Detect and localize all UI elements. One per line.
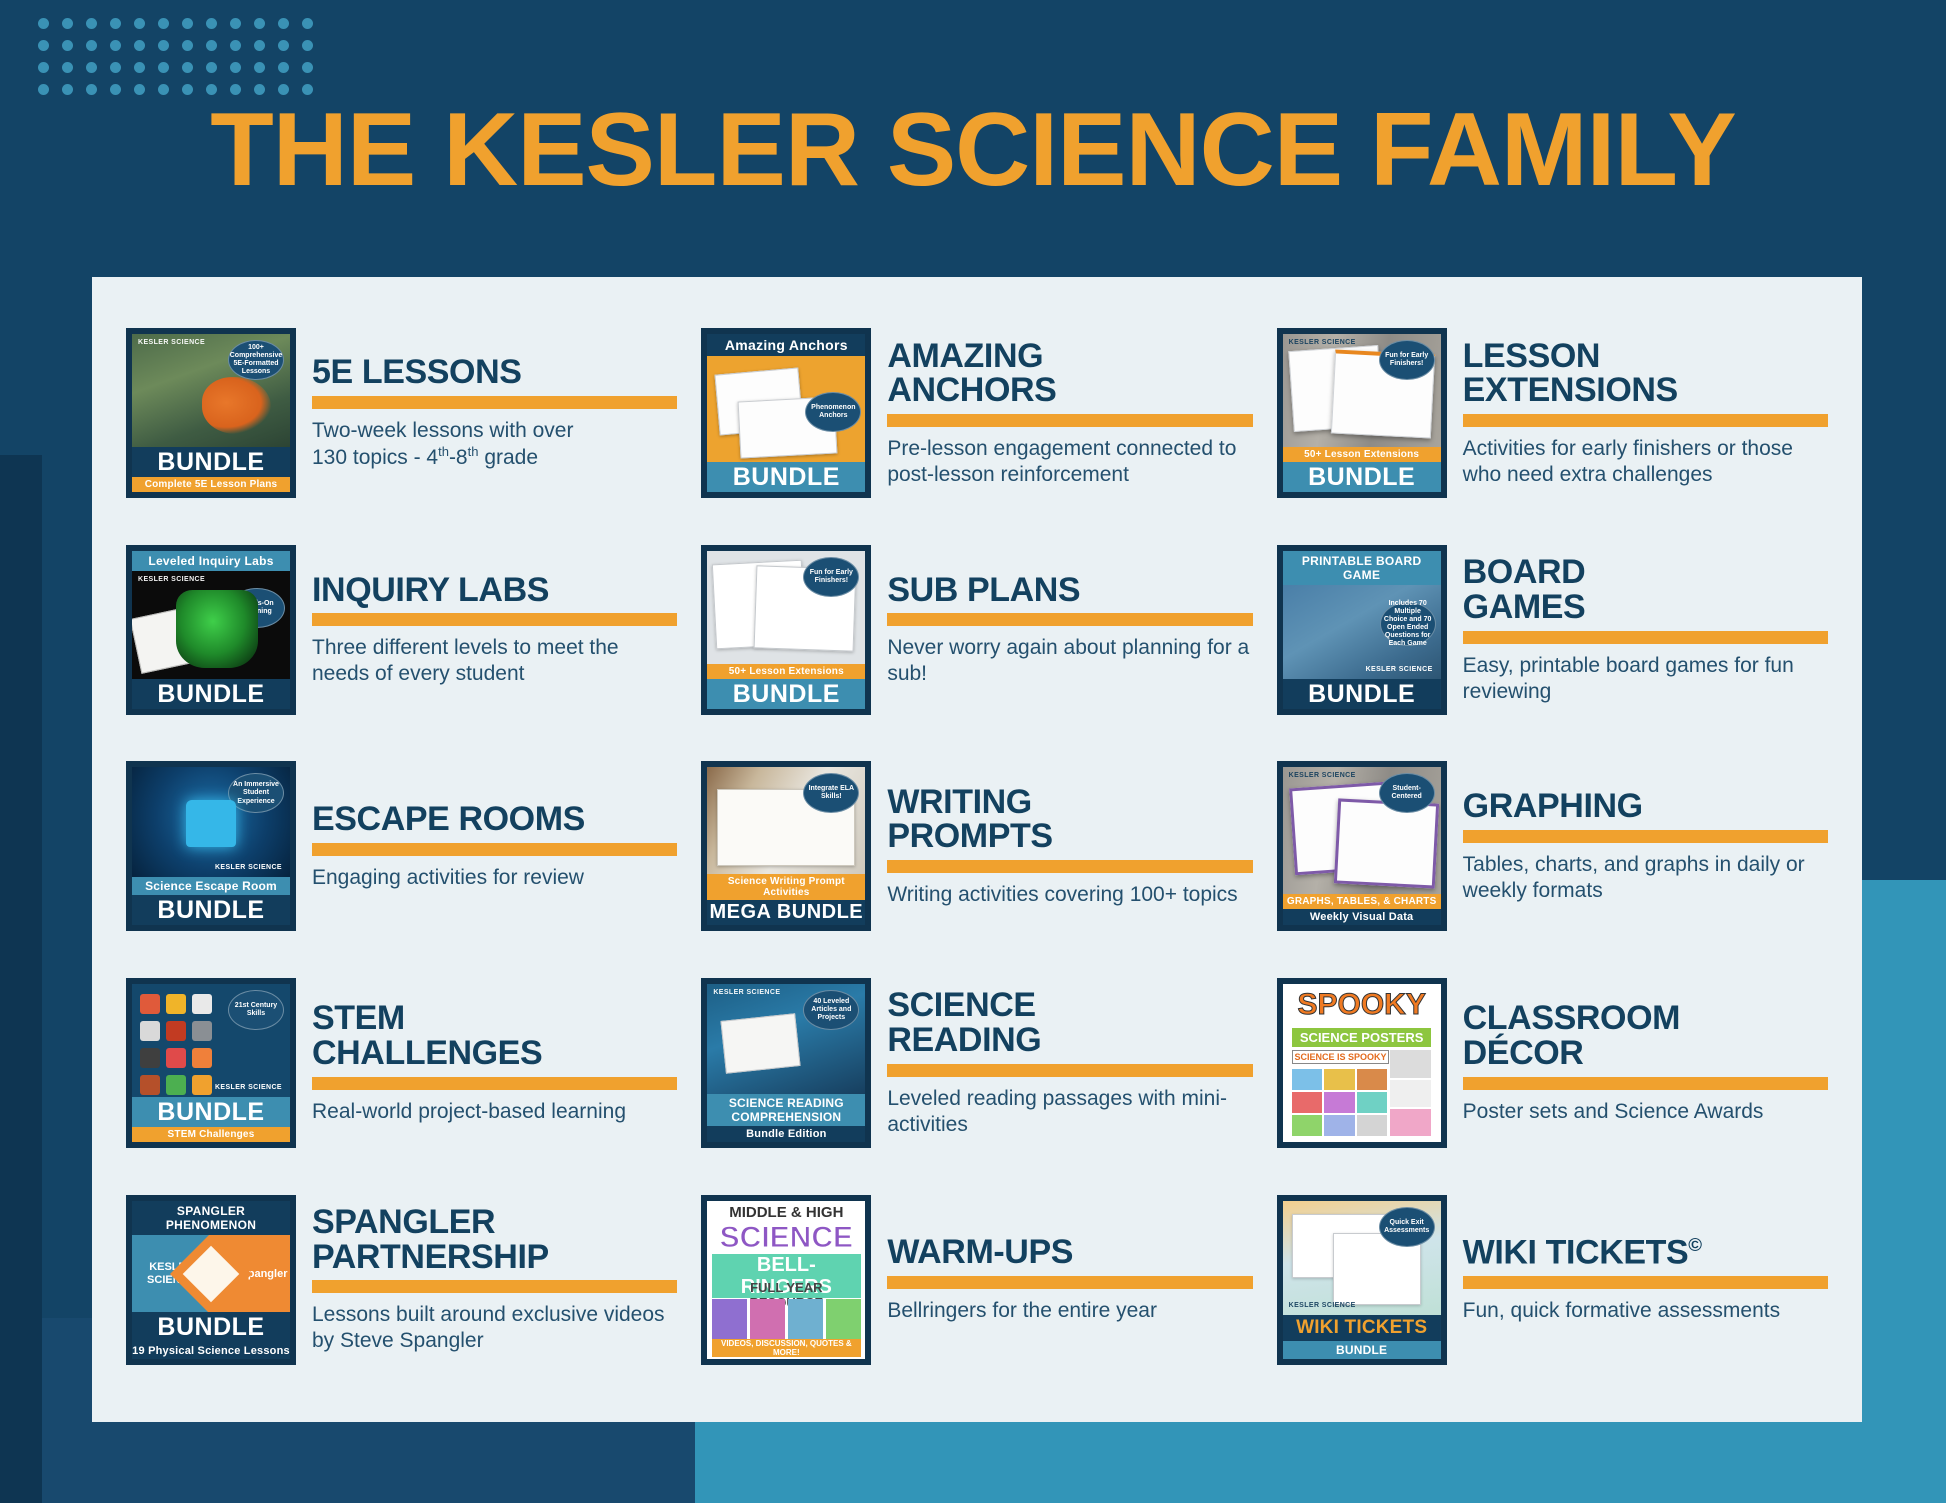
kesler-science-logo-icon: KESLER SCIENCE — [1289, 1302, 1356, 1309]
product-info: WARM-UPS Bellringers for the entire year — [887, 1235, 1252, 1324]
orange-rule — [887, 860, 1252, 873]
product-card-spangler-partnership[interactable]: SPANGLER PHENOMENON KESLER SCIENCE steve… — [114, 1171, 689, 1388]
thumb-footer-label: Weekly Visual Data — [1283, 909, 1441, 925]
product-title: INQUIRY LABS — [312, 573, 677, 608]
thumb-sub-label: Complete 5E Lesson Plans — [132, 477, 290, 492]
thumb-badge: 100+ Comprehensive 5E-Formatted Lessons — [228, 340, 284, 380]
thumb-sub-label: Science Writing Prompt Activities — [707, 874, 865, 900]
thumb-art-exit-tickets: KESLER SCIENCE Quick Exit Assessments — [1283, 1201, 1441, 1315]
product-card-writing-prompts[interactable]: Integrate ELA Skills! Science Writing Pr… — [689, 738, 1264, 955]
thumb-badge: Student-Centered — [1379, 773, 1435, 813]
product-grid: KESLER SCIENCE 100+ Comprehensive 5E-For… — [92, 277, 1862, 1422]
thumbnail-escape-rooms[interactable]: An Immersive Student Experience KESLER S… — [126, 761, 296, 931]
product-info: LESSONEXTENSIONS Activities for early fi… — [1463, 339, 1828, 488]
dot-pattern-decoration — [38, 18, 308, 98]
thumb-art-board-game: Includes 70 Multiple Choice and 70 Open … — [1283, 585, 1441, 679]
product-description: Three different levels to meet the needs… — [312, 635, 677, 687]
thumb-sub-label: GRAPHS, TABLES, & CHARTS — [1283, 894, 1441, 909]
product-info: CLASSROOMDÉCOR Poster sets and Science A… — [1463, 1001, 1828, 1124]
thumbnail-stem-challenges[interactable]: 21st Century Skills KESLER SCIENCE BUNDL… — [126, 978, 296, 1148]
product-description: Leveled reading passages with mini-activ… — [887, 1086, 1252, 1138]
orange-rule — [1463, 830, 1828, 843]
kesler-science-logo-icon: KESLER SCIENCE — [138, 339, 205, 346]
thumb-art-stem-icons: 21st Century Skills KESLER SCIENCE — [132, 984, 290, 1097]
product-info: ESCAPE ROOMS Engaging activities for rev… — [312, 802, 677, 891]
thumb-sub-label: 50+ Lesson Extensions — [1283, 447, 1441, 462]
product-card-escape-rooms[interactable]: An Immersive Student Experience KESLER S… — [114, 738, 689, 955]
thumb-sub-label: 19 Physical Science Lessons — [132, 1343, 290, 1359]
thumb-art-coral-reef: KESLER SCIENCE 100+ Comprehensive 5E-For… — [132, 334, 290, 447]
kesler-science-logo-icon: KESLER SCIENCE — [1289, 772, 1356, 779]
thumb-footer-label: BUNDLE — [707, 462, 865, 492]
page-title: THE KESLER SCIENCE FAMILY — [0, 98, 1946, 202]
thumb-art-reading-passages: KESLER SCIENCE 40 Leveled Articles and P… — [707, 984, 865, 1094]
thumb-art-sub-plan-pages: Fun for Early Finishers! — [707, 551, 865, 664]
orange-rule — [887, 613, 1252, 626]
thumb-footer-label: Bundle Edition — [707, 1126, 865, 1142]
thumb-art-lab-equipment: KESLER SCIENCE Hands-On Learning — [132, 571, 290, 679]
thumb-art-graphs-pages: KESLER SCIENCE Student-Centered — [1283, 767, 1441, 894]
thumbnail-classroom-decor[interactable]: SPOOKY SCIENCE POSTERS SCIENCE IS SPOOKY — [1277, 978, 1447, 1148]
kesler-science-logo-icon: KESLER SCIENCE — [215, 864, 282, 871]
product-description: Tables, charts, and graphs in daily or w… — [1463, 852, 1828, 904]
orange-rule — [312, 613, 677, 626]
thumb-footer-label: BUNDLE — [132, 1312, 290, 1342]
thumb-art-anchor-documents: Phenomenon Anchors — [707, 356, 865, 462]
product-info: STEMCHALLENGES Real-world project-based … — [312, 1001, 677, 1124]
product-card-amazing-anchors[interactable]: Amazing Anchors Phenomenon Anchors BUNDL… — [689, 305, 1264, 522]
thumbnail-lesson-extensions[interactable]: KESLER SCIENCE Fun for Early Finishers! … — [1277, 328, 1447, 498]
product-title: ESCAPE ROOMS — [312, 802, 677, 837]
product-card-wiki-tickets[interactable]: KESLER SCIENCE Quick Exit Assessments WI… — [1265, 1171, 1840, 1388]
product-description: Engaging activities for review — [312, 865, 677, 891]
product-description: Two-week lessons with over130 topics - 4… — [312, 418, 677, 471]
thumb-badge: Quick Exit Assessments — [1379, 1207, 1435, 1247]
thumbnail-warm-ups[interactable]: MIDDLE & HIGH SCIENCE BELL-RINGERS FULL … — [701, 1195, 871, 1365]
product-description: Fun, quick formative assessments — [1463, 1298, 1828, 1324]
product-info: WIKI TICKETS© Fun, quick formative asses… — [1463, 1235, 1828, 1324]
product-card-board-games[interactable]: PRINTABLE BOARD GAME Includes 70 Multipl… — [1265, 522, 1840, 739]
product-info: INQUIRY LABS Three different levels to m… — [312, 573, 677, 688]
thumb-sub-label: 50+ Lesson Extensions — [707, 664, 865, 679]
product-description: Activities for early finishers or those … — [1463, 436, 1828, 488]
orange-rule — [312, 1077, 677, 1090]
cover-line-1: MIDDLE & HIGH — [712, 1205, 861, 1220]
thumbnail-graphing[interactable]: KESLER SCIENCE Student-Centered GRAPHS, … — [1277, 761, 1447, 931]
product-card-lesson-extensions[interactable]: KESLER SCIENCE Fun for Early Finishers! … — [1265, 305, 1840, 522]
product-title: SPANGLERPARTNERSHIP — [312, 1205, 677, 1274]
product-title: AMAZINGANCHORS — [887, 339, 1252, 408]
thumb-footer-label: BUNDLE — [1283, 1341, 1441, 1359]
thumb-header-label: Amazing Anchors — [707, 334, 865, 356]
product-card-graphing[interactable]: KESLER SCIENCE Student-Centered GRAPHS, … — [1265, 738, 1840, 955]
product-description: Lessons built around exclusive videos by… — [312, 1302, 677, 1354]
product-description: Poster sets and Science Awards — [1463, 1099, 1828, 1125]
orange-rule — [1463, 631, 1828, 644]
thumbnail-amazing-anchors[interactable]: Amazing Anchors Phenomenon Anchors BUNDL… — [701, 328, 871, 498]
product-title: WRITINGPROMPTS — [887, 785, 1252, 854]
thumb-footer-label: BUNDLE — [1283, 462, 1441, 492]
orange-rule — [887, 1064, 1252, 1077]
thumbnail-inquiry-labs[interactable]: Leveled Inquiry Labs KESLER SCIENCE Hand… — [126, 545, 296, 715]
product-card-5e-lessons[interactable]: KESLER SCIENCE 100+ Comprehensive 5E-For… — [114, 305, 689, 522]
orange-rule — [312, 396, 677, 409]
content-panel: KESLER SCIENCE 100+ Comprehensive 5E-For… — [92, 277, 1862, 1422]
product-description: Pre-lesson engagement connected to post-… — [887, 436, 1252, 488]
thumb-badge: An Immersive Student Experience — [228, 773, 284, 813]
thumb-footer-label: BUNDLE — [132, 895, 290, 925]
thumb-footer-label: BUNDLE — [132, 1097, 290, 1127]
product-description: Bellringers for the entire year — [887, 1298, 1252, 1324]
thumbnail-writing-prompts[interactable]: Integrate ELA Skills! Science Writing Pr… — [701, 761, 871, 931]
thumb-footer-label: BUNDLE — [1283, 679, 1441, 709]
thumbnail-wiki-tickets[interactable]: KESLER SCIENCE Quick Exit Assessments WI… — [1277, 1195, 1447, 1365]
orange-rule — [1463, 1276, 1828, 1289]
thumb-art-writing-worksheet: Integrate ELA Skills! — [707, 767, 865, 874]
product-info: AMAZINGANCHORS Pre-lesson engagement con… — [887, 339, 1252, 488]
product-card-classroom-decor[interactable]: SPOOKY SCIENCE POSTERS SCIENCE IS SPOOKY… — [1265, 955, 1840, 1172]
product-info: WRITINGPROMPTS Writing activities coveri… — [887, 785, 1252, 908]
thumbnail-science-reading[interactable]: KESLER SCIENCE 40 Leveled Articles and P… — [701, 978, 871, 1148]
product-title: WARM-UPS — [887, 1235, 1252, 1270]
thumb-sub-label: SCIENCE READING COMPREHENSION — [707, 1094, 865, 1126]
thumb-art-spooky-posters: SPOOKY SCIENCE POSTERS SCIENCE IS SPOOKY — [1283, 984, 1441, 1142]
kesler-science-logo-icon: KESLER SCIENCE — [1289, 339, 1356, 346]
thumb-sub-label: WIKI TICKETS — [1283, 1315, 1441, 1341]
kesler-science-logo-icon: KESLER SCIENCE — [1366, 666, 1433, 673]
product-description: Never worry again about planning for a s… — [887, 635, 1252, 687]
kesler-science-logo-icon: KESLER SCIENCE — [713, 989, 780, 996]
poster-band: SCIENCE IS SPOOKY — [1292, 1050, 1389, 1064]
product-card-warm-ups[interactable]: MIDDLE & HIGH SCIENCE BELL-RINGERS FULL … — [689, 1171, 1264, 1388]
kesler-science-logo-icon: KESLER SCIENCE — [215, 1084, 282, 1091]
thumb-art-worksheets-wood: KESLER SCIENCE Fun for Early Finishers! — [1283, 334, 1441, 447]
product-card-science-reading[interactable]: KESLER SCIENCE 40 Leveled Articles and P… — [689, 955, 1264, 1172]
thumb-art-partnership-logos: KESLER SCIENCE stevespangler — [132, 1235, 290, 1313]
product-description: Easy, printable board games for fun revi… — [1463, 653, 1828, 705]
thumbnail-spangler-partnership[interactable]: SPANGLER PHENOMENON KESLER SCIENCE steve… — [126, 1195, 296, 1365]
thumb-art-bell-ringers-cover: MIDDLE & HIGH SCIENCE BELL-RINGERS FULL … — [707, 1201, 865, 1359]
orange-rule — [1463, 1077, 1828, 1090]
product-info: SUB PLANS Never worry again about planni… — [887, 573, 1252, 688]
product-info: 5E LESSONS Two-week lessons with over130… — [312, 355, 677, 471]
thumb-badge: Hands-On Learning — [229, 588, 285, 628]
thumb-art-digital-lock: An Immersive Student Experience KESLER S… — [132, 767, 290, 877]
product-info: BOARDGAMES Easy, printable board games f… — [1463, 555, 1828, 704]
thumb-badge: 21st Century Skills — [228, 990, 284, 1030]
cover-footer-band: VIDEOS, DISCUSSION, QUOTES & MORE! — [712, 1339, 861, 1357]
product-card-stem-challenges[interactable]: 21st Century Skills KESLER SCIENCE BUNDL… — [114, 955, 689, 1172]
thumb-footer-label: BUNDLE — [132, 679, 290, 709]
thumb-badge: Fun for Early Finishers! — [803, 557, 859, 597]
product-title: GRAPHING — [1463, 789, 1828, 824]
thumb-header-label: Leveled Inquiry Labs — [132, 551, 290, 571]
product-title: STEMCHALLENGES — [312, 1001, 677, 1070]
poster-title: SPOOKY — [1292, 990, 1431, 1020]
product-title: BOARDGAMES — [1463, 555, 1828, 624]
product-card-sub-plans[interactable]: Fun for Early Finishers! 50+ Lesson Exte… — [689, 522, 1264, 739]
poster-subtitle: SCIENCE POSTERS — [1292, 1028, 1431, 1047]
thumb-badge: 40 Leveled Articles and Projects — [803, 990, 859, 1030]
thumbnail-5e-lessons[interactable]: KESLER SCIENCE 100+ Comprehensive 5E-For… — [126, 328, 296, 498]
product-description: Real-world project-based learning — [312, 1099, 677, 1125]
product-title: LESSONEXTENSIONS — [1463, 339, 1828, 408]
thumbnail-sub-plans[interactable]: Fun for Early Finishers! 50+ Lesson Exte… — [701, 545, 871, 715]
product-description: Writing activities covering 100+ topics — [887, 882, 1252, 908]
background-navy-left-strip — [0, 455, 42, 1503]
thumb-footer-label: BUNDLE — [132, 447, 290, 477]
thumb-header-label: SPANGLER PHENOMENON — [132, 1201, 290, 1235]
product-info: GRAPHING Tables, charts, and graphs in d… — [1463, 789, 1828, 904]
thumb-footer-label: BUNDLE — [707, 679, 865, 709]
product-title: 5E LESSONS — [312, 355, 677, 390]
product-title: CLASSROOMDÉCOR — [1463, 1001, 1828, 1070]
orange-rule — [312, 843, 677, 856]
orange-rule — [887, 414, 1252, 427]
product-card-inquiry-labs[interactable]: Leveled Inquiry Labs KESLER SCIENCE Hand… — [114, 522, 689, 739]
thumb-badge: Fun for Early Finishers! — [1379, 340, 1435, 380]
thumb-badge: Includes 70 Multiple Choice and 70 Open … — [1380, 602, 1436, 646]
thumb-sub-label: Science Escape Room — [132, 877, 290, 895]
thumb-footer-label: MEGA BUNDLE — [707, 900, 865, 925]
kesler-science-logo-icon: KESLER SCIENCE — [138, 576, 205, 583]
product-title: SCIENCEREADING — [887, 988, 1252, 1057]
orange-rule — [1463, 414, 1828, 427]
thumb-header-label: PRINTABLE BOARD GAME — [1283, 551, 1441, 585]
product-info: SCIENCEREADING Leveled reading passages … — [887, 988, 1252, 1137]
thumb-sub-label: STEM Challenges — [132, 1127, 290, 1142]
product-title: WIKI TICKETS© — [1463, 1235, 1828, 1270]
cover-line-2: SCIENCE — [712, 1223, 861, 1253]
product-title: SUB PLANS — [887, 573, 1252, 608]
product-info: SPANGLERPARTNERSHIP Lessons built around… — [312, 1205, 677, 1354]
thumb-badge: Phenomenon Anchors — [805, 392, 861, 432]
thumbnail-board-games[interactable]: PRINTABLE BOARD GAME Includes 70 Multipl… — [1277, 545, 1447, 715]
orange-rule — [887, 1276, 1252, 1289]
orange-rule — [312, 1280, 677, 1293]
